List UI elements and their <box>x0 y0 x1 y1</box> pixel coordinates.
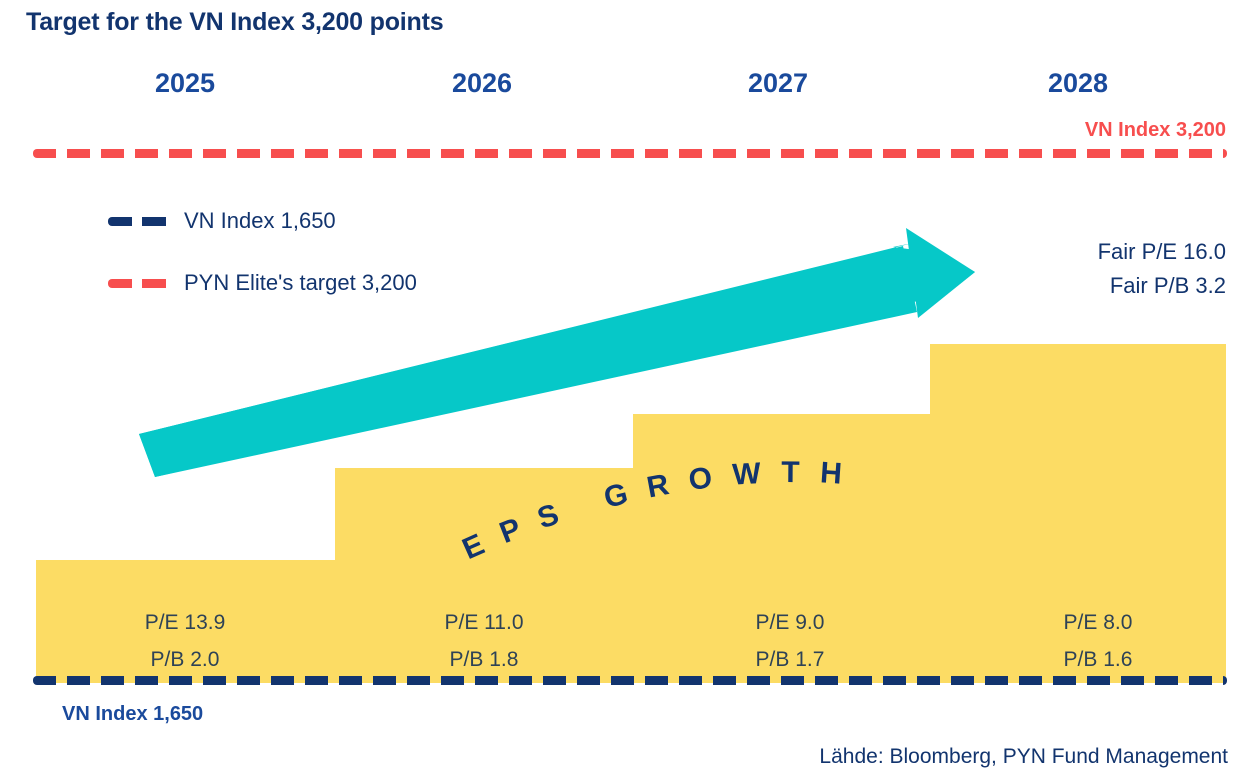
legend-item-pyn-target: PYN Elite's target 3,200 <box>108 264 417 302</box>
bar-pe-2027: P/E 9.0 <box>756 604 825 641</box>
bar-pb-2026: P/B 1.8 <box>445 641 524 678</box>
fair-pe-annotation: Fair P/E 16.0 <box>1098 239 1226 265</box>
fair-pb-annotation: Fair P/B 3.2 <box>1110 273 1226 299</box>
target-line-label: VN Index 3,200 <box>1085 119 1226 142</box>
source-note: Lähde: Bloomberg, PYN Fund Management <box>819 745 1228 769</box>
bar-metrics-2026: P/E 11.0 P/B 1.8 <box>445 604 524 678</box>
bar-pb-2027: P/B 1.7 <box>756 641 825 678</box>
legend-swatch-dashed-navy-icon <box>108 217 170 226</box>
bar-metrics-2025: P/E 13.9 P/B 2.0 <box>145 604 226 678</box>
bar-pe-2028: P/E 8.0 <box>1064 604 1133 641</box>
chart-canvas: Target for the VN Index 3,200 points 202… <box>0 0 1256 778</box>
baseline-line-label: VN Index 1,650 <box>62 703 203 726</box>
legend: VN Index 1,650 PYN Elite's target 3,200 <box>108 202 417 326</box>
legend-label-pyn-target: PYN Elite's target 3,200 <box>184 270 417 296</box>
legend-item-vn-index: VN Index 1,650 <box>108 202 417 240</box>
bar-pe-2026: P/E 11.0 <box>445 604 524 641</box>
bar-metrics-2028: P/E 8.0 P/B 1.6 <box>1064 604 1133 678</box>
bar-metrics-2027: P/E 9.0 P/B 1.7 <box>756 604 825 678</box>
target-reference-line <box>33 149 1227 158</box>
legend-label-vn-index: VN Index 1,650 <box>184 208 336 234</box>
bar-pb-2025: P/B 2.0 <box>145 641 226 678</box>
bar-pb-2028: P/B 1.6 <box>1064 641 1133 678</box>
bar-pe-2025: P/E 13.9 <box>145 604 226 641</box>
legend-swatch-dashed-red-icon <box>108 279 170 288</box>
